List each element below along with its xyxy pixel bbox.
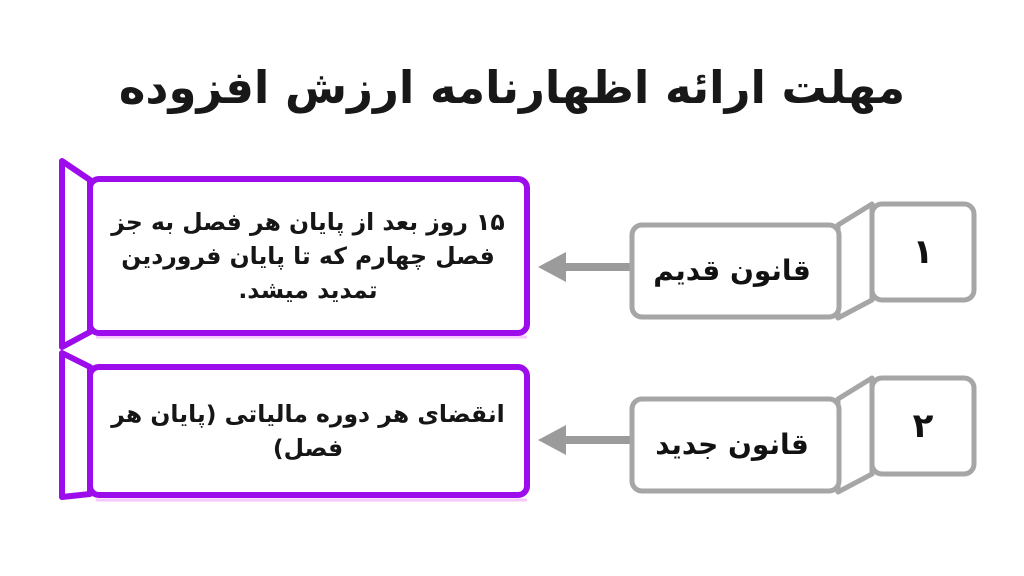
detail-text-old-law: ۱۵ روز بعد از پایان هر فصل به جز فصل چها… bbox=[90, 180, 526, 332]
connector-2 bbox=[838, 378, 872, 492]
arrow-new-law bbox=[538, 425, 634, 455]
infographic-canvas: مهلت ارائه اظهارنامه ارزش افزوده bbox=[0, 0, 1024, 576]
law-label-new: قانون جدید bbox=[632, 400, 832, 488]
step-number-2: ۲ bbox=[876, 380, 970, 472]
arrow-old-law bbox=[538, 252, 634, 282]
purple-box-1-side-panel bbox=[62, 161, 90, 347]
connector-1 bbox=[838, 204, 872, 318]
step-number-1: ۱ bbox=[876, 206, 970, 298]
purple-box-2-side-panel bbox=[62, 353, 90, 497]
law-label-old: قانون قدیم bbox=[632, 226, 832, 314]
detail-text-new-law: انقضای هر دوره مالیاتی (پایان هر فصل) bbox=[90, 368, 526, 494]
